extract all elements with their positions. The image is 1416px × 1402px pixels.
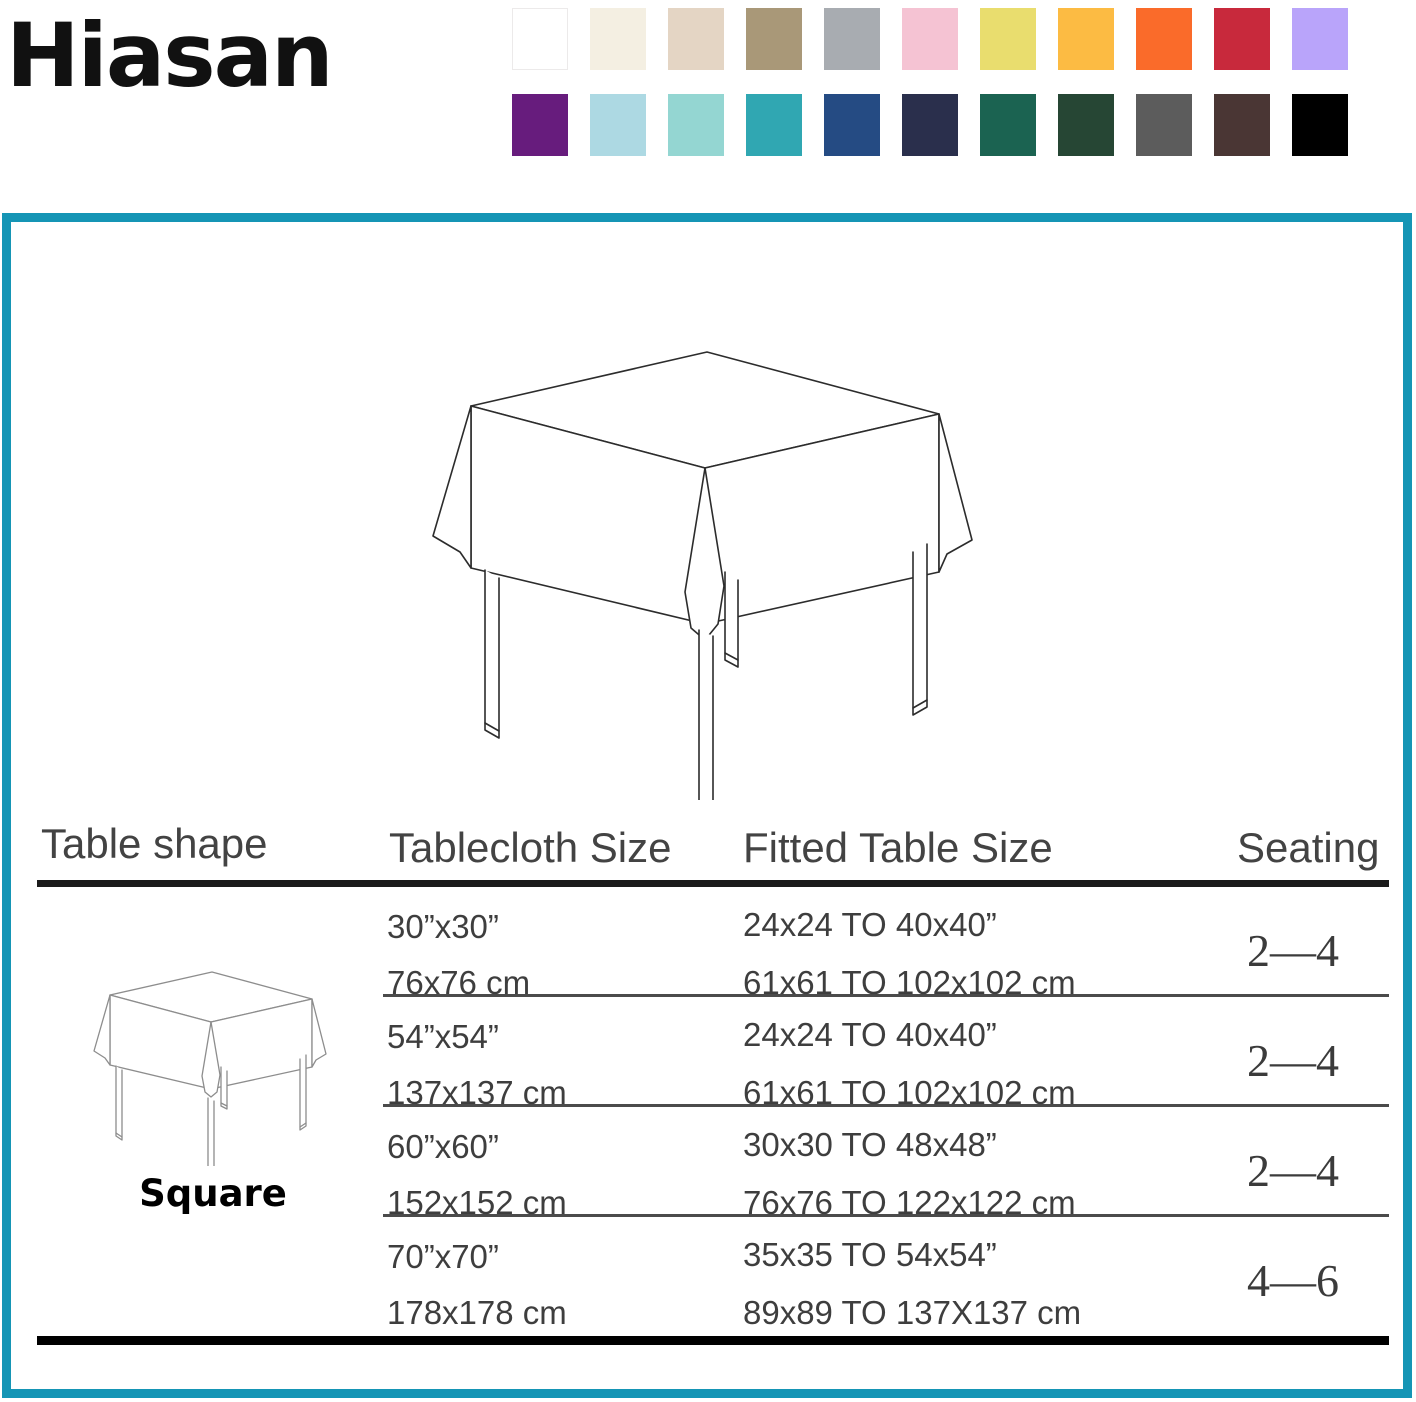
row-2-tablecloth-inches: 54”x54” [387, 1018, 499, 1056]
row-1-seating: 2—4 [1247, 924, 1339, 977]
row-4-seating: 4—6 [1247, 1254, 1339, 1307]
square-table-icon [88, 966, 338, 1166]
row-3-tablecloth-inches: 60”x60” [387, 1128, 499, 1166]
color-swatch-gold[interactable] [1058, 8, 1114, 70]
row-2-fitted-cm: 61x61 TO 102x102 cm [743, 1074, 1076, 1112]
row-1-fitted-inches: 24x24 TO 40x40” [743, 906, 997, 944]
column-header-seating: Seating [1237, 824, 1379, 872]
table-shape-cell: Square [55, 966, 371, 1215]
brand-logo: Hiasan [6, 12, 332, 100]
color-swatch-aqua[interactable] [668, 94, 724, 156]
row-2-fitted-inches: 24x24 TO 40x40” [743, 1016, 997, 1054]
color-swatch-purple[interactable] [512, 94, 568, 156]
color-swatch-pink[interactable] [902, 8, 958, 70]
color-swatch-white[interactable] [512, 8, 568, 70]
color-swatch-grey[interactable] [824, 8, 880, 70]
color-swatch-red[interactable] [1214, 8, 1270, 70]
color-swatch-brown[interactable] [1214, 94, 1270, 156]
row-3-fitted-cm: 76x76 TO 122x122 cm [743, 1184, 1076, 1222]
table-shape-label: Square [55, 1172, 371, 1215]
table-bottom-rule [37, 1336, 1389, 1345]
color-swatch-denim-blue[interactable] [824, 94, 880, 156]
row-4-fitted-cm: 89x89 TO 137X137 cm [743, 1294, 1081, 1332]
color-swatch-charcoal[interactable] [1136, 94, 1192, 156]
size-chart-panel: Table shape Tablecloth Size Fitted Table… [2, 213, 1412, 1398]
color-swatch-yellow[interactable] [980, 8, 1036, 70]
color-swatch-ivory[interactable] [590, 8, 646, 70]
row-2-tablecloth-cm: 137x137 cm [387, 1074, 567, 1112]
row-4-fitted-inches: 35x35 TO 54x54” [743, 1236, 997, 1274]
color-swatch-emerald[interactable] [980, 94, 1036, 156]
row-3-seating: 2—4 [1247, 1144, 1339, 1197]
row-3-tablecloth-cm: 152x152 cm [387, 1184, 567, 1222]
row-1-fitted-cm: 61x61 TO 102x102 cm [743, 964, 1076, 1002]
row-4-tablecloth-inches: 70”x70” [387, 1238, 499, 1276]
header-divider [37, 880, 1389, 887]
color-swatch-teal[interactable] [746, 94, 802, 156]
square-table-illustration [419, 340, 999, 800]
column-header-table-shape: Table shape [41, 820, 268, 868]
color-swatch-row-2 [512, 94, 1408, 156]
row-1-tablecloth-cm: 76x76 cm [387, 964, 530, 1002]
color-swatch-orange[interactable] [1136, 8, 1192, 70]
color-swatch-dark-green[interactable] [1058, 94, 1114, 156]
color-swatch-beige[interactable] [668, 8, 724, 70]
color-swatch-row-1 [512, 8, 1408, 70]
row-3-fitted-inches: 30x30 TO 48x48” [743, 1126, 997, 1164]
row-4-tablecloth-cm: 178x178 cm [387, 1294, 567, 1332]
color-swatch-grid [512, 8, 1408, 180]
color-swatch-navy[interactable] [902, 94, 958, 156]
row-2-seating: 2—4 [1247, 1034, 1339, 1087]
column-header-fitted-table-size: Fitted Table Size [743, 824, 1053, 872]
color-swatch-black[interactable] [1292, 94, 1348, 156]
color-swatch-lavender[interactable] [1292, 8, 1348, 70]
color-swatch-taupe[interactable] [746, 8, 802, 70]
column-header-tablecloth-size: Tablecloth Size [389, 824, 672, 872]
color-swatch-light-blue[interactable] [590, 94, 646, 156]
row-1-tablecloth-inches: 30”x30” [387, 908, 499, 946]
brand-header: Hiasan [0, 0, 1416, 206]
